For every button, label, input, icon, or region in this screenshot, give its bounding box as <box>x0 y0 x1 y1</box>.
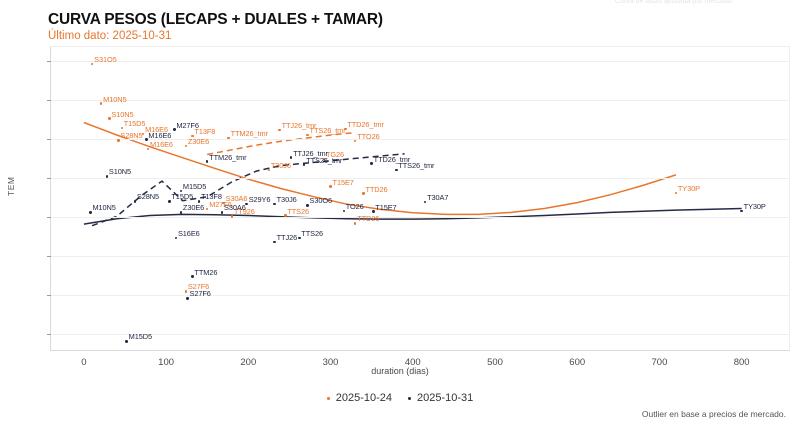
data-point <box>117 139 119 141</box>
point-label: TTM26_tmr <box>209 153 246 162</box>
data-point <box>186 297 188 299</box>
data-point <box>306 204 308 206</box>
data-point <box>740 210 742 212</box>
point-label: M27F6 <box>176 121 199 130</box>
point-label: TTS26_tmr <box>310 126 346 135</box>
point-label: Z30E6 <box>188 137 209 146</box>
point-label: S10N5 <box>109 167 131 176</box>
point-label: TTS26 <box>287 207 309 216</box>
point-label: TTS26_tmr <box>398 161 434 170</box>
data-point <box>108 117 110 119</box>
data-point <box>221 211 223 213</box>
data-point <box>173 128 175 130</box>
point-label: T30J6 <box>271 161 291 170</box>
legend-marker-icon <box>327 397 330 400</box>
data-point <box>106 175 108 177</box>
point-label: T15E7 <box>375 203 396 212</box>
data-point <box>121 127 123 129</box>
point-label: TTD26 <box>357 214 379 223</box>
data-point <box>329 185 331 187</box>
data-point <box>168 200 170 202</box>
y-gridline <box>51 100 789 101</box>
point-label: S16E6 <box>178 229 200 238</box>
point-label: S31O5 <box>94 55 117 64</box>
point-label: TTJ26 <box>277 233 297 242</box>
point-label: S27F6 <box>189 289 210 298</box>
point-label: TTS26 <box>301 229 323 238</box>
point-label: T13F8 <box>201 192 222 201</box>
data-point <box>231 215 233 217</box>
plot-area: -1.0%0.0%1.0%2.0%3.0%4.0%5.0%6.0%0100200… <box>50 46 790 351</box>
point-label: M16E6 <box>150 140 173 149</box>
point-label: TTM26 <box>194 268 217 277</box>
y-tick-mark <box>47 256 51 257</box>
point-label: TTM26_tmr <box>231 129 268 138</box>
data-point <box>675 192 677 194</box>
point-label: TY30P <box>678 184 700 193</box>
point-label: T15E7 <box>333 178 354 187</box>
y-gridline <box>51 178 789 179</box>
point-label: S28N5 <box>120 131 142 140</box>
legend-marker-icon <box>408 397 411 400</box>
point-label: TTO26 <box>357 132 379 141</box>
legend-label: 2025-10-31 <box>417 392 473 404</box>
data-point <box>343 210 345 212</box>
legend-item[interactable]: 2025-10-24 <box>327 392 392 404</box>
y-tick-mark <box>47 217 51 218</box>
data-point <box>273 203 275 205</box>
point-label: TTD26 <box>365 185 387 194</box>
data-point <box>191 275 193 277</box>
data-point <box>145 138 147 140</box>
point-label: TY30P <box>744 202 766 211</box>
point-label: TTS26_tmr <box>306 156 342 165</box>
data-point <box>306 134 308 136</box>
footnote: Outlier en base a precios de mercado. <box>642 409 786 419</box>
point-label: T15D5 <box>171 192 193 201</box>
point-label: TTD26_tmr <box>347 120 383 129</box>
y-tick-mark <box>47 295 51 296</box>
point-label: T30A7 <box>427 193 448 202</box>
data-point <box>180 211 182 213</box>
legend-item[interactable]: 2025-10-31 <box>408 392 473 404</box>
y-tick-mark <box>47 178 51 179</box>
page-title: CURVA PESOS (LECAPS + DUALES + TAMAR) <box>48 11 383 29</box>
y-axis-label: TEM <box>6 177 16 196</box>
data-point <box>284 214 286 216</box>
point-label: S30O6 <box>310 196 333 205</box>
chart-page: CURVA PESOS (LECAPS + DUALES + TAMAR) Úl… <box>0 0 800 426</box>
point-label: Z30E6 <box>183 203 204 212</box>
data-point <box>89 211 91 213</box>
y-tick-mark <box>47 100 51 101</box>
chart-legend: 2025-10-242025-10-31 <box>0 392 800 404</box>
point-label: M10N5 <box>103 95 126 104</box>
fitted-curves <box>51 47 791 352</box>
legend-label: 2025-10-24 <box>336 392 392 404</box>
point-label: TO26 <box>346 202 364 211</box>
x-axis-label: duration (dias) <box>0 366 800 376</box>
point-label: M10N5 <box>92 203 115 212</box>
y-tick-mark <box>47 61 51 62</box>
data-point <box>370 162 372 164</box>
data-point <box>362 192 364 194</box>
data-point <box>245 203 247 205</box>
point-label: T15D5 <box>124 119 146 128</box>
point-label: M16E6 <box>148 131 171 140</box>
data-point <box>268 169 270 171</box>
point-label: M15D5 <box>183 182 206 191</box>
data-point <box>198 200 200 202</box>
point-label: S28N5 <box>137 192 159 201</box>
y-gridline <box>51 217 789 218</box>
chart-subtitle: Último dato: 2025-10-31 <box>48 30 171 42</box>
point-label: M15D5 <box>129 332 152 341</box>
y-gridline <box>51 295 789 296</box>
y-gridline <box>51 256 789 257</box>
y-gridline <box>51 61 789 62</box>
data-point <box>134 200 136 202</box>
point-label: T30J6 <box>277 195 297 204</box>
y-tick-mark <box>47 139 51 140</box>
top-cutoff-text: Curva de tasas ajustada por mercado <box>615 0 732 5</box>
y-tick-mark <box>47 334 51 335</box>
data-point <box>185 290 187 292</box>
point-label: S30A6 <box>224 203 246 212</box>
y-gridline <box>51 334 789 335</box>
data-point <box>372 210 374 212</box>
point-label: S10N5 <box>111 110 133 119</box>
point-label: S29Y6 <box>249 195 271 204</box>
data-point <box>125 340 127 342</box>
